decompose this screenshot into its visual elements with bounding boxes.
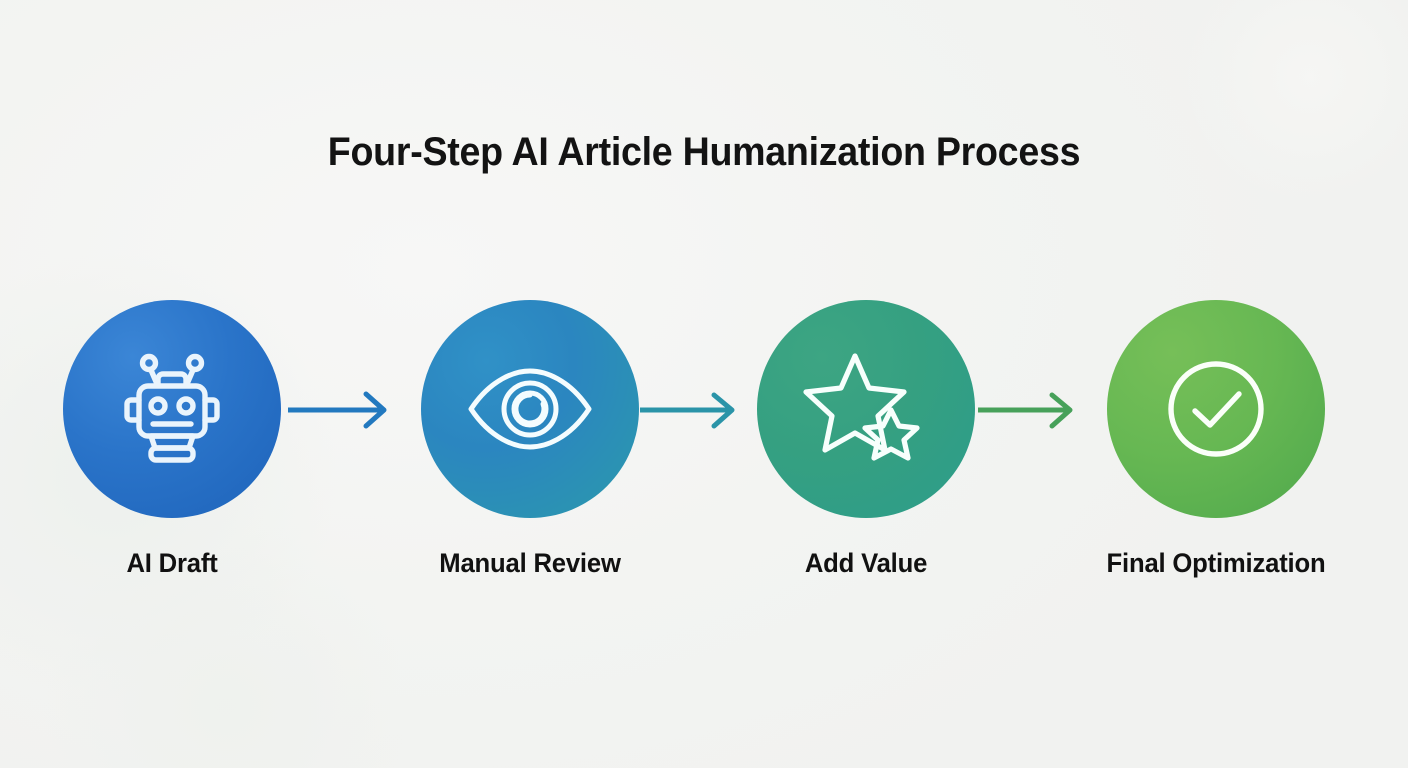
process-step-3[interactable]: Add Value (736, 300, 996, 579)
step-3-circle (757, 300, 975, 518)
eye-icon (465, 363, 595, 455)
page-title: Four-Step AI Article Humanization Proces… (42, 130, 1366, 175)
robot-icon (111, 348, 233, 470)
check-circle-icon (1164, 357, 1268, 461)
two-stars-icon (803, 348, 929, 470)
step-2-circle (421, 300, 639, 518)
process-steps: AI Draft Manual Revi (0, 300, 1408, 620)
step-2-label: Manual Review (407, 548, 654, 579)
infographic-canvas: Four-Step AI Article Humanization Proces… (0, 0, 1408, 768)
process-step-4[interactable]: Final Optimization (1086, 300, 1346, 579)
step-4-label: Final Optimization (1093, 548, 1340, 579)
step-3-label: Add Value (743, 548, 990, 579)
step-4-circle (1107, 300, 1325, 518)
process-step-2[interactable]: Manual Review (400, 300, 660, 579)
step-1-label: AI Draft (49, 548, 296, 579)
step-1-circle (63, 300, 281, 518)
process-step-1[interactable]: AI Draft (42, 300, 302, 579)
